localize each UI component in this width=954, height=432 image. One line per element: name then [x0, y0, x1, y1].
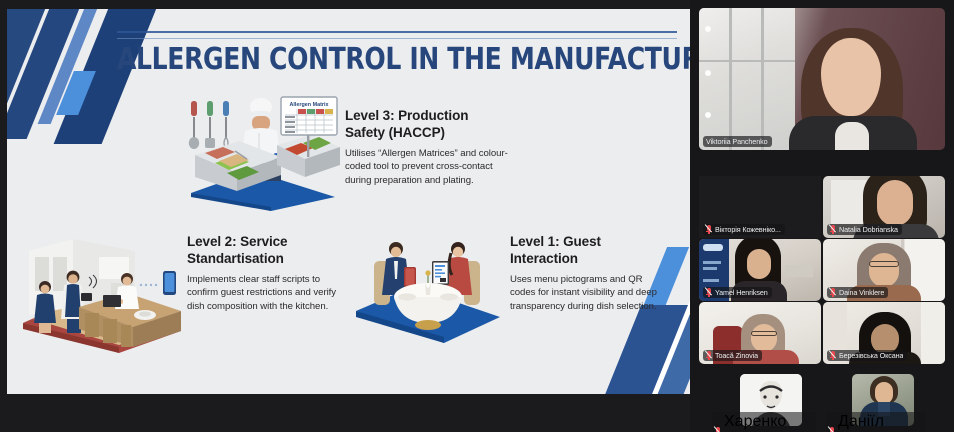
video-tile-participant[interactable]: Natalia Dobrianska — [823, 176, 945, 238]
mic-muted-icon — [830, 351, 836, 360]
nametag-participant: Харенко Дмитро О... — [712, 412, 816, 432]
illustration-chef-prep-station: Allergen Matrix — [185, 93, 340, 213]
block-heading-level-1: Level 1: Guest Interaction — [510, 233, 662, 268]
mic-muted-icon — [706, 225, 712, 234]
illustration-service-standardisation — [15, 227, 187, 357]
block-heading-level-2: Level 2: Service Standartisation — [187, 233, 339, 268]
participant-name: Даніїл Іванченко — [838, 413, 922, 432]
allergen-matrix-board-label: Allergen Matrix — [290, 102, 329, 108]
video-tile-participant[interactable]: Yamel Henriksen — [699, 239, 821, 301]
mic-muted-icon — [715, 427, 721, 432]
participant-name: Yamel Henriksen — [715, 288, 768, 297]
block-body-level-2: Implements clear staff scripts to confir… — [187, 273, 339, 314]
participant-name: Natalia Dobrianska — [839, 225, 898, 234]
mic-muted-icon — [830, 225, 836, 234]
nametag-participant: Березівська Оксана — [827, 350, 907, 361]
participant-name: Daina Vinklere — [839, 288, 884, 297]
nametag-participant: Yamel Henriksen — [703, 287, 772, 298]
block-body-level-1: Uses menu pictograms and QR codes for in… — [510, 273, 662, 314]
slide-block-level-1: Level 1: Guest Interaction Uses menu pic… — [510, 233, 662, 313]
slide-title-group: ALLERGEN CONTROL IN THE MANUFACTURING PR… — [117, 31, 677, 75]
participant-name: Вікторія Кожевніко... — [715, 225, 781, 234]
participant-panel: Viktoriia Panchenko Вікторія Кожев... Na… — [690, 0, 954, 432]
title-rule-thin — [117, 38, 677, 39]
nametag-participant: Natalia Dobrianska — [827, 224, 902, 235]
speaker-person-figure — [795, 28, 911, 150]
illustration-guest-interaction — [352, 227, 504, 349]
nametag-participant: Даніїл Іванченко — [826, 412, 926, 432]
mic-muted-icon — [829, 427, 835, 432]
slide-block-level-3: Level 3: Production Safety (HACCP) Utili… — [345, 107, 509, 187]
shared-screen-stage[interactable]: ALLERGEN CONTROL IN THE MANUFACTURING PR… — [0, 0, 690, 432]
mic-muted-icon — [706, 351, 712, 360]
participant-grid: Natalia Dobrianska Вікторія Кожевніко... — [699, 176, 945, 364]
screen-root: ALLERGEN CONTROL IN THE MANUFACTURING PR… — [0, 0, 954, 432]
video-tile-participant[interactable]: Daina Vinklere — [823, 239, 945, 301]
nametag-participant: Вікторія Кожевніко... — [703, 224, 785, 235]
slide-block-level-2: Level 2: Service Standartisation Impleme… — [187, 233, 339, 313]
nametag-active-speaker: Viktoriia Panchenko — [703, 136, 772, 147]
speaker-background-window — [699, 8, 795, 150]
presentation-slide: ALLERGEN CONTROL IN THE MANUFACTURING PR… — [7, 9, 690, 394]
participant-name: Toacă Zinovia — [715, 351, 758, 360]
participant-name: Березівська Оксана — [839, 351, 903, 360]
video-tile-participant[interactable]: Березівська Оксана — [823, 302, 945, 364]
slide-title: ALLERGEN CONTROL IN THE MANUFACTURING PR… — [117, 45, 638, 75]
nametag-participant: Daina Vinklere — [827, 287, 888, 298]
mic-muted-icon — [706, 288, 712, 297]
video-tile-participant[interactable]: Toacă Zinovia — [699, 302, 821, 364]
participant-name: Viktoriia Panchenko — [706, 137, 768, 146]
participant-name: Харенко Дмитро О... — [724, 413, 812, 432]
block-heading-level-3: Level 3: Production Safety (HACCP) — [345, 107, 509, 142]
video-tile-participant-no-video[interactable]: Вікторія Кожевніко... — [699, 176, 821, 238]
mic-muted-icon — [830, 288, 836, 297]
nametag-participant: Toacă Zinovia — [703, 350, 762, 361]
video-tile-active-speaker[interactable]: Viktoriia Panchenko — [699, 8, 945, 150]
block-body-level-3: Utilises “Allergen Matrices” and colour-… — [345, 147, 509, 188]
title-rule-thick — [117, 31, 677, 33]
